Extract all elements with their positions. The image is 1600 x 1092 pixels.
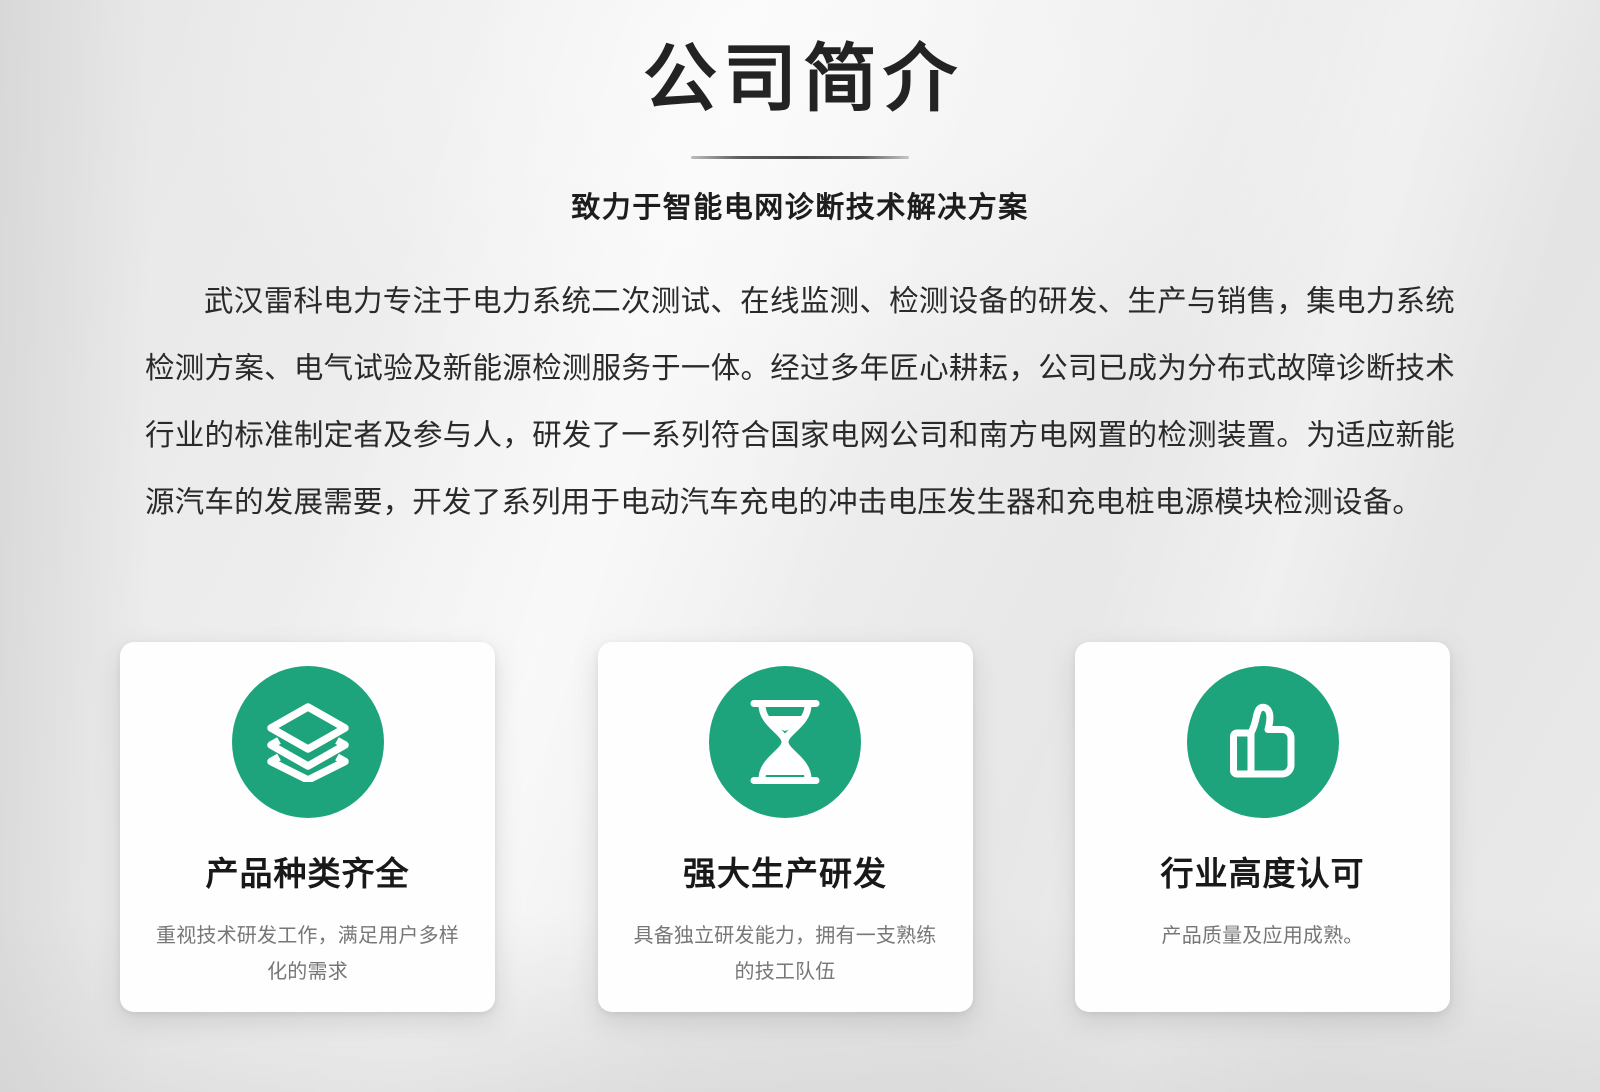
feature-card-description: 产品质量及应用成熟。 bbox=[1110, 918, 1415, 954]
page-subtitle: 致力于智能电网诊断技术解决方案 bbox=[0, 191, 1600, 226]
heading-block: 公司简介 致力于智能电网诊断技术解决方案 bbox=[0, 0, 1600, 226]
thumbs-up-icon bbox=[1187, 666, 1339, 818]
feature-card[interactable]: 行业高度认可 产品质量及应用成熟。 bbox=[1075, 642, 1450, 1012]
intro-paragraph: 武汉雷科电力专注于电力系统二次测试、在线监测、检测设备的研发、生产与销售，集电力… bbox=[145, 268, 1455, 536]
title-divider bbox=[691, 156, 909, 159]
page-content: 公司简介 致力于智能电网诊断技术解决方案 武汉雷科电力专注于电力系统二次测试、在… bbox=[0, 0, 1600, 536]
feature-card-title: 行业高度认可 bbox=[1161, 854, 1365, 894]
feature-card[interactable]: 产品种类齐全 重视技术研发工作，满足用户多样化的需求 bbox=[120, 642, 495, 1012]
layers-icon bbox=[232, 666, 384, 818]
feature-card[interactable]: 强大生产研发 具备独立研发能力，拥有一支熟练的技工队伍 bbox=[598, 642, 973, 1012]
feature-card-description: 重视技术研发工作，满足用户多样化的需求 bbox=[155, 918, 460, 990]
feature-card-description: 具备独立研发能力，拥有一支熟练的技工队伍 bbox=[633, 918, 938, 990]
feature-card-list: 产品种类齐全 重视技术研发工作，满足用户多样化的需求 bbox=[120, 642, 1450, 1012]
intro-paragraph-block: 武汉雷科电力专注于电力系统二次测试、在线监测、检测设备的研发、生产与销售，集电力… bbox=[145, 268, 1455, 536]
company-profile-page: 公司简介 致力于智能电网诊断技术解决方案 武汉雷科电力专注于电力系统二次测试、在… bbox=[0, 0, 1600, 1092]
feature-card-title: 强大生产研发 bbox=[683, 854, 887, 894]
page-title: 公司简介 bbox=[0, 42, 1600, 116]
hourglass-icon bbox=[709, 666, 861, 818]
feature-card-title: 产品种类齐全 bbox=[206, 854, 410, 894]
